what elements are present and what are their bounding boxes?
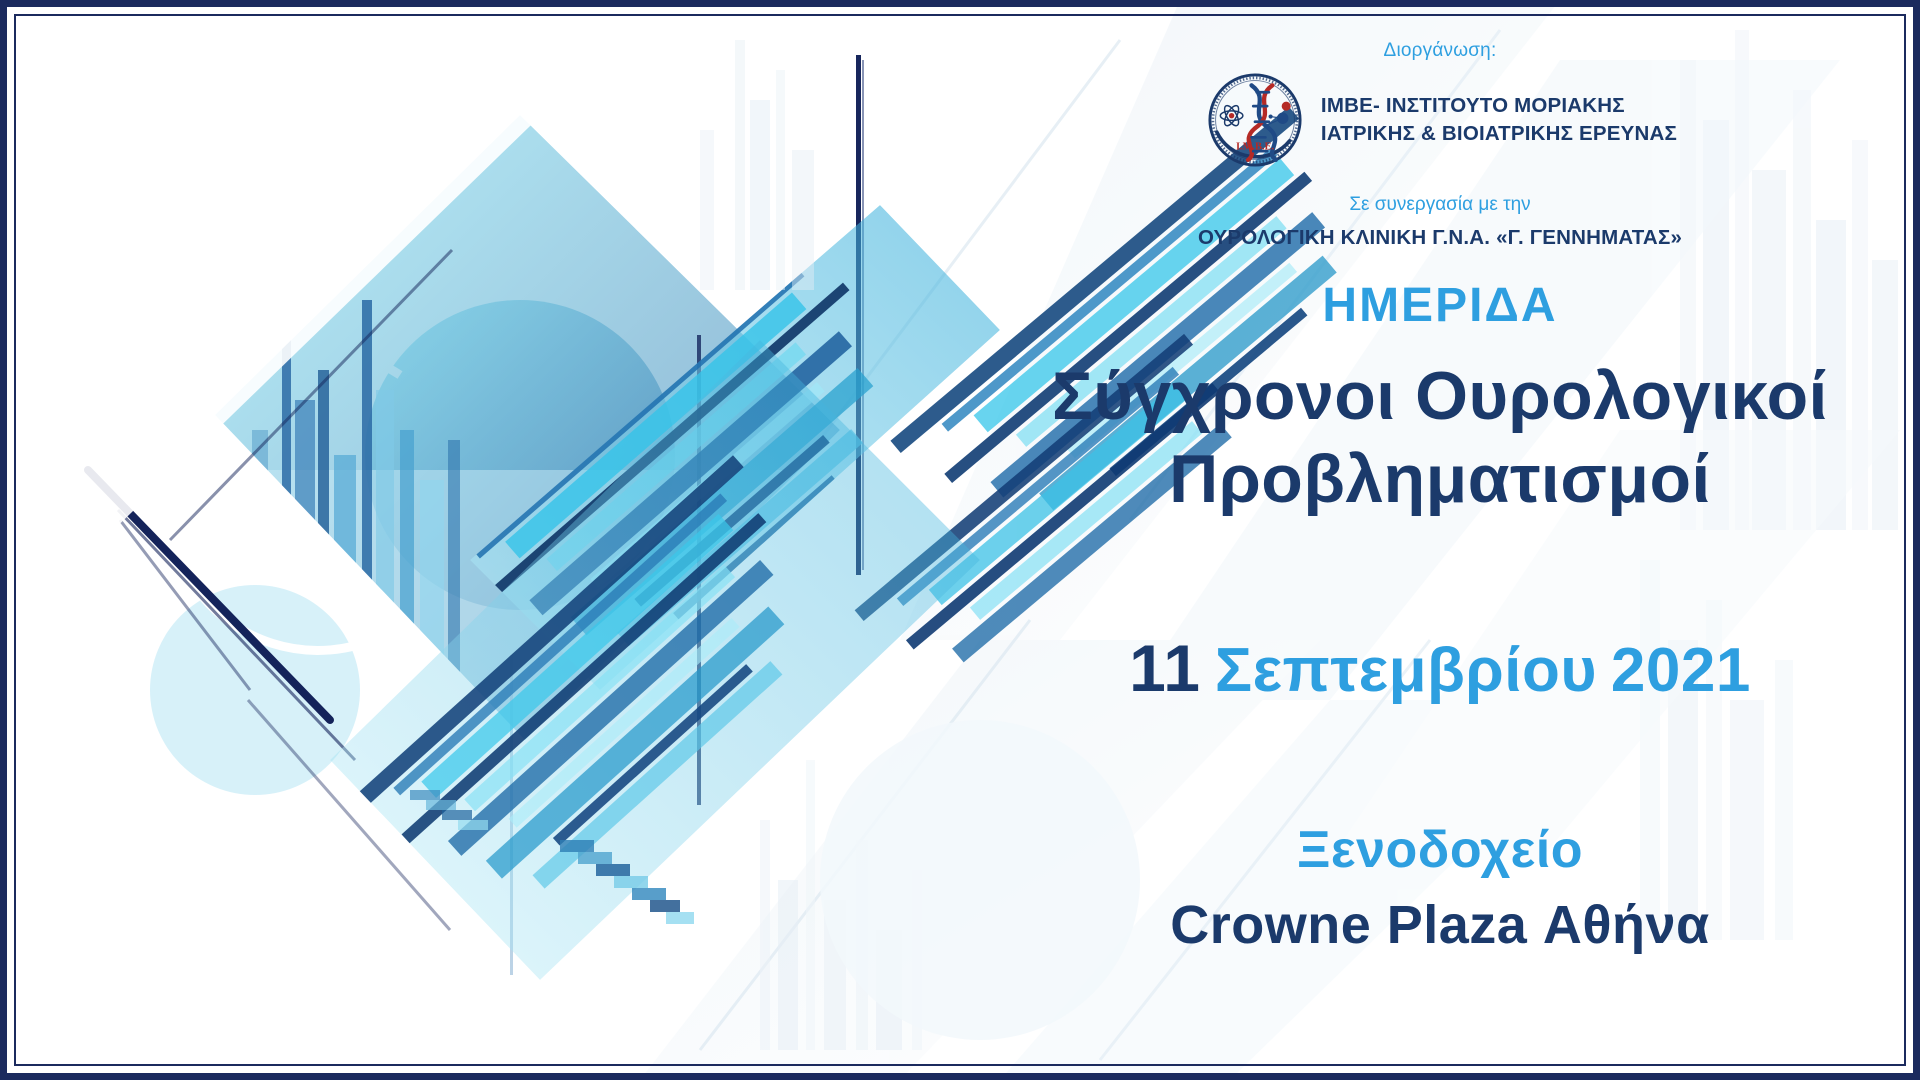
organizer-label: Διοργάνωση: [1000,40,1880,62]
collaboration-label: Σε συνεργασία με την [1000,194,1880,216]
cyan-blob [150,585,360,795]
event-kicker: ΗΜΕΡΙΔΑ [1000,280,1880,333]
content-column: Διοργάνωση: [1000,0,1880,1080]
event-title: Σύγχρονοι Ουρολογικοί Προβληματισμοί [1000,355,1880,521]
event-poster: Διοργάνωση: [0,0,1920,1080]
title-block: ΗΜΕΡΙΔΑ Σύγχρονοι Ουρολογικοί Προβληματι… [1000,280,1880,521]
white-corner-wedge-bl [0,900,420,1080]
collaboration-partner: ΟΥΡΟΛΟΓΙΚΗ ΚΛΙΝΙΚΗ Γ.Ν.Α. «Γ. ΓΕΝΝΗΜΑΤΑΣ… [1000,226,1880,250]
event-title-line-1: Σύγχρονοι Ουρολογικοί [1000,355,1880,438]
atom-icon [1220,104,1243,128]
organizer-block: Διοργάνωση: [1000,40,1880,250]
event-date-month: Σεπτεμβρίου [1215,636,1597,705]
venue-label: Ξενοδοχείο [1000,820,1880,880]
event-date-day: 11 [1129,631,1201,705]
organizer-row: I.M.B.E. IMBE- ΙΝΣΤΙΤΟΥΤΟ ΜΟΡΙΑΚΗΣ ΙΑΤΡΙ… [1000,68,1880,172]
event-venue: Ξενοδοχείο Crowne Plaza Αθήνα [1000,820,1880,956]
molecule-dots-icon [1264,102,1290,127]
ghost-skyline-upper-mid [700,40,814,290]
logo-caption: I.M.B.E. [1236,141,1275,152]
venue-name: Crowne Plaza Αθήνα [1000,894,1880,956]
organizer-institute-name: IMBE- ΙΝΣΤΙΤΟΥΤΟ ΜΟΡΙΑΚΗΣ ΙΑΤΡΙΚΗΣ & ΒΙΟ… [1321,92,1677,147]
event-date-year: 2021 [1611,636,1751,705]
event-date: 11Σεπτεμβρίου2021 [1000,630,1880,706]
imbe-dna-atom-logo: I.M.B.E. [1203,68,1307,172]
event-title-line-2: Προβληματισμοί [1000,438,1880,521]
